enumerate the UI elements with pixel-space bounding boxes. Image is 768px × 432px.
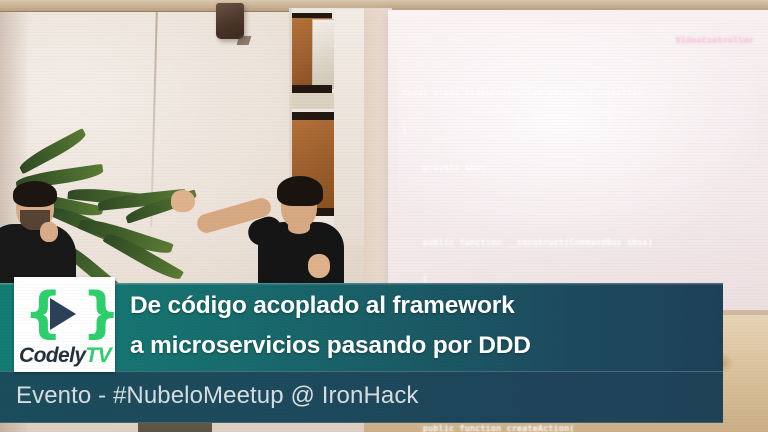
logo-word-tv: TV [85,344,111,367]
code-line: { [402,124,754,136]
talk-title-line-2: a microservicios pasando por DDD [130,326,716,366]
wall-speaker-icon [216,3,244,39]
code-line: private $bus; [402,161,754,173]
play-triangle-icon [50,298,76,330]
code-line: public function __construct(CommandBus $… [402,236,754,248]
talk-title-line-1: De código acoplado al framework [130,286,716,326]
logo-wordmark: CodelyTV [19,344,111,368]
logo-mark: { } [22,286,108,342]
logo-word-codely: Codely [19,344,85,367]
event-subtitle: Evento - #NubeloMeetup @ IronHack [16,378,419,414]
video-frame: VideoController final class VideoControl… [0,0,768,432]
talk-title: De código acoplado al framework a micros… [130,286,716,366]
slide-tab-label: VideoController [676,36,754,45]
code-line: public function createAction( [402,422,754,432]
door-glass-pane [312,19,336,89]
curly-brace-right-icon: } [82,286,120,340]
code-line: final class VideoController extends Cont… [402,87,754,99]
wall-segment-right [334,10,364,246]
code-line [402,198,754,210]
door-lintel [292,93,334,109]
